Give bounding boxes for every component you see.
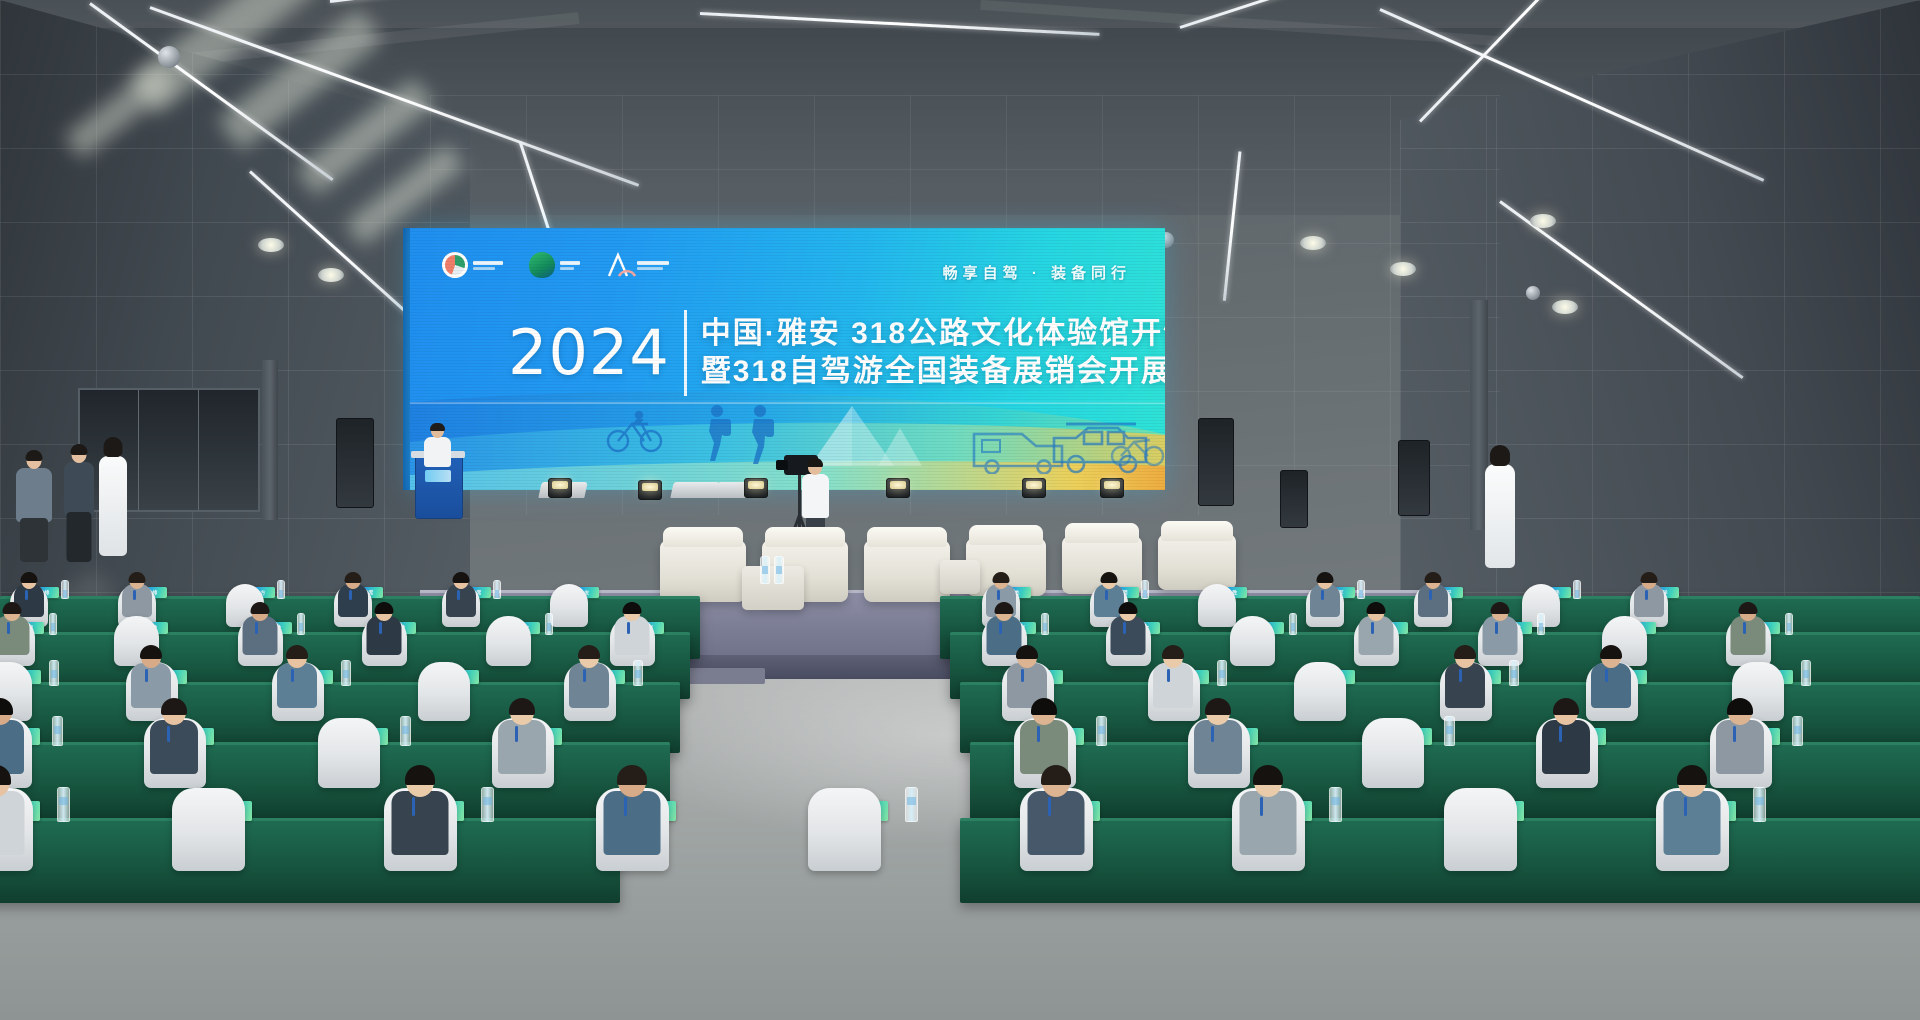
logo-route318-arch-emblem xyxy=(606,252,669,278)
hostess-in-white xyxy=(1482,448,1518,574)
water-bottle xyxy=(297,613,305,635)
conference-chair xyxy=(1294,662,1346,721)
logo-culture-tourism-emblem xyxy=(442,252,503,278)
led-screen-banner: 畅享自驾 · 装备同行 2024 中国·雅安 318公路文化体验馆开馆 暨318… xyxy=(410,228,1165,490)
cyclist-icon xyxy=(606,408,664,454)
wall-column xyxy=(262,360,278,520)
hostess-in-white xyxy=(96,440,130,566)
photo-scene: 畅享自驾 · 装备同行 2024 中国·雅安 318公路文化体验馆开馆 暨318… xyxy=(0,0,1920,1020)
seated-attendee xyxy=(1153,647,1193,712)
par-light xyxy=(886,478,910,498)
speaker-stack xyxy=(1398,440,1430,516)
conference-chair xyxy=(318,718,380,788)
conference-chair xyxy=(1362,718,1424,788)
water-bottle xyxy=(1041,613,1049,635)
seated-attendee xyxy=(122,573,152,621)
seated-attendee xyxy=(0,767,24,859)
downlight xyxy=(1530,214,1556,228)
downlight xyxy=(1552,300,1578,314)
hiker-icon xyxy=(702,404,736,462)
water-bottle xyxy=(1329,787,1342,822)
speaker-stack xyxy=(1280,470,1308,528)
seated-attendee xyxy=(0,603,29,659)
seated-attendee xyxy=(498,700,546,778)
par-light xyxy=(1100,478,1124,498)
par-light xyxy=(1022,478,1046,498)
water-bottle xyxy=(57,787,70,822)
banner-title-line-2: 暨318自驾游全国装备展销会开展仪式 xyxy=(701,356,1165,388)
conference-chair xyxy=(1230,616,1275,666)
par-light xyxy=(638,480,662,500)
water-bottle xyxy=(341,660,351,686)
water-bottle xyxy=(1785,613,1793,635)
seated-attendee xyxy=(242,603,277,659)
water-bottle xyxy=(774,556,784,584)
coffee-table xyxy=(742,566,804,610)
conference-chair xyxy=(172,788,245,871)
seated-attendee xyxy=(1542,700,1590,778)
cctv-camera-icon xyxy=(1526,286,1540,300)
conference-chair xyxy=(1444,788,1517,871)
banner-title-block: 2024 中国·雅安 318公路文化体验馆开馆 暨318自驾游全国装备展销会开展… xyxy=(508,310,1165,396)
conference-chair xyxy=(808,788,881,871)
seated-attendee xyxy=(1418,573,1448,621)
presenter-at-lectern xyxy=(423,424,451,464)
seated-attendee xyxy=(1591,647,1631,712)
downlight xyxy=(318,268,344,282)
seated-attendee xyxy=(1445,647,1485,712)
water-bottle xyxy=(1792,716,1803,746)
water-bottle xyxy=(760,556,770,584)
downlight xyxy=(1390,262,1416,276)
water-bottle xyxy=(49,660,59,686)
title-divider xyxy=(684,310,687,396)
water-bottle xyxy=(61,580,69,599)
seated-attendee xyxy=(1027,767,1084,859)
downlight xyxy=(258,238,284,252)
speaker-stack xyxy=(336,418,374,508)
seated-attendee xyxy=(1310,573,1340,621)
water-bottle xyxy=(633,660,643,686)
water-bottle xyxy=(493,580,501,599)
sponsor-logo-row xyxy=(442,252,669,278)
water-bottle xyxy=(1357,580,1365,599)
conference-chair xyxy=(1198,584,1236,627)
culture-tourism-emblem-icon xyxy=(442,252,468,278)
seated-attendee xyxy=(446,573,476,621)
banner-year: 2024 xyxy=(508,324,670,383)
seated-attendee xyxy=(569,647,609,712)
tent-icon xyxy=(808,402,928,468)
banquet-table xyxy=(960,818,1920,903)
seated-attendee xyxy=(150,700,198,778)
seated-attendee xyxy=(1239,767,1296,859)
par-light xyxy=(548,478,572,498)
sichuan-tourism-emblem-icon xyxy=(529,252,555,278)
route318-arch-emblem-icon xyxy=(606,252,632,278)
photographer xyxy=(62,446,96,564)
seated-attendee xyxy=(1716,700,1764,778)
banquet-table xyxy=(0,818,620,903)
photographer xyxy=(14,452,54,562)
seated-attendee xyxy=(1730,603,1765,659)
water-bottle xyxy=(481,787,494,822)
motorcycle-icon xyxy=(1110,428,1165,468)
seated-attendee xyxy=(603,767,660,859)
water-bottle xyxy=(1801,660,1811,686)
water-bottle xyxy=(1096,716,1107,746)
water-bottle xyxy=(1537,613,1545,635)
water-bottle xyxy=(49,613,57,635)
conference-chair xyxy=(418,662,470,721)
seated-attendee xyxy=(1358,603,1393,659)
coffee-table xyxy=(940,560,980,594)
logo-sichuan-tourism-emblem xyxy=(529,252,580,278)
seated-attendee xyxy=(1110,603,1145,659)
water-bottle xyxy=(1573,580,1581,599)
banner-title-line-1: 中国·雅安 318公路文化体验馆开馆 xyxy=(701,318,1165,350)
lectern-emblem xyxy=(425,470,451,482)
seated-attendee xyxy=(1482,603,1517,659)
conference-chair xyxy=(486,616,531,666)
par-light xyxy=(744,478,768,498)
lounge-sofa xyxy=(1158,534,1236,590)
seated-attendee xyxy=(1634,573,1664,621)
seated-attendee xyxy=(338,573,368,621)
banner-slogan: 畅享自驾 · 装备同行 xyxy=(943,262,1131,283)
water-bottle xyxy=(905,787,918,822)
water-bottle xyxy=(1444,716,1455,746)
hiker-icon xyxy=(744,404,778,464)
conference-chair xyxy=(550,584,588,627)
water-bottle xyxy=(1753,787,1766,822)
seated-attendee xyxy=(366,603,401,659)
water-bottle xyxy=(1289,613,1297,635)
water-bottle xyxy=(545,613,553,635)
seated-attendee xyxy=(1194,700,1242,778)
water-bottle xyxy=(1141,580,1149,599)
water-bottle xyxy=(277,580,285,599)
water-bottle xyxy=(400,716,411,746)
lounge-sofa xyxy=(864,540,950,602)
cctv-camera-icon xyxy=(158,46,180,68)
banner-wave-hairline xyxy=(410,402,1165,404)
water-bottle xyxy=(52,716,63,746)
stage-monitor xyxy=(670,482,719,498)
seated-attendee xyxy=(277,647,317,712)
speaker-stack xyxy=(1198,418,1234,506)
lounge-sofa xyxy=(660,540,746,602)
seated-attendee xyxy=(391,767,448,859)
seated-attendee xyxy=(614,603,649,659)
water-bottle xyxy=(1509,660,1519,686)
water-bottle xyxy=(1217,660,1227,686)
downlight xyxy=(1300,236,1326,250)
seated-attendee xyxy=(1663,767,1720,859)
